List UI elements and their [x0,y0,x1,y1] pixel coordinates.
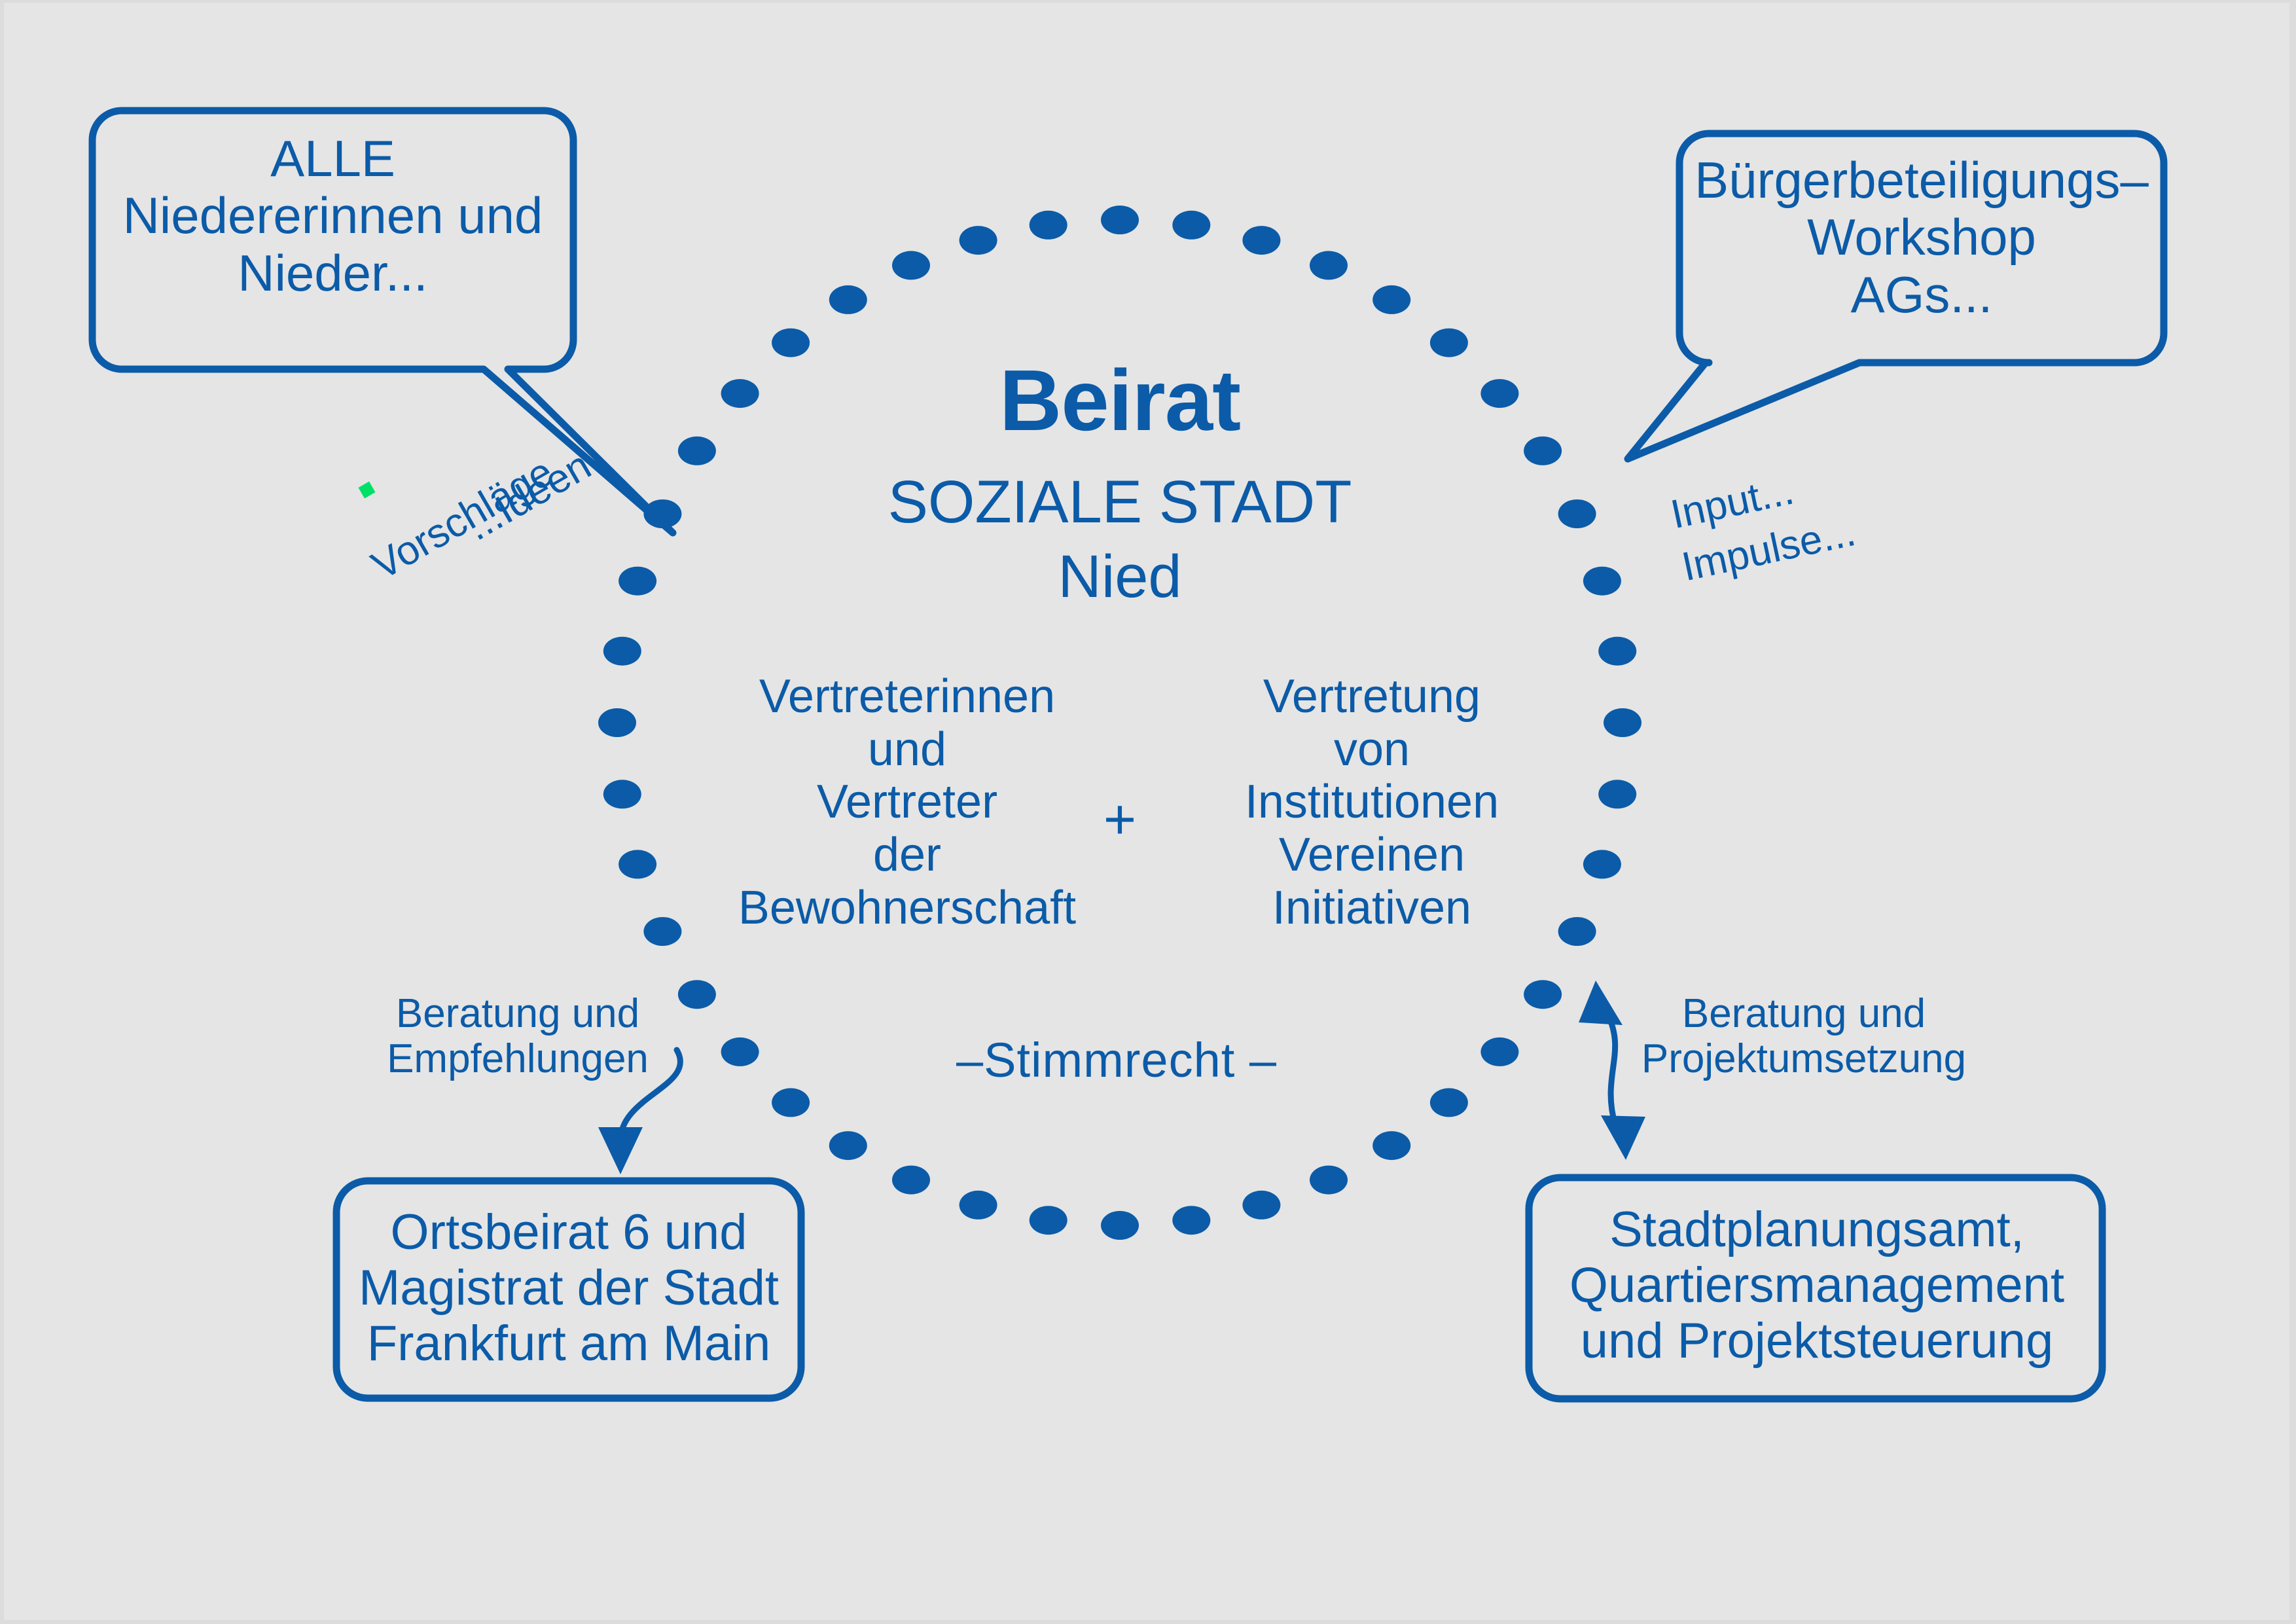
center-left-column: Vertreterinnen und Vertreter der Bewohne… [704,670,1110,934]
ring-dot [721,379,759,408]
center-footer-stimmrecht: –Stimmrecht – [933,1034,1300,1088]
center-title-main: Beirat [776,352,1463,449]
ring-dot [1242,1191,1280,1219]
ring-dot [1242,226,1280,255]
ring-dot [1372,1131,1410,1160]
ring-dot [1524,437,1562,465]
ring-dot [1310,251,1348,280]
ring-dot [603,637,641,666]
diagram-canvas: .stroke { fill: none; stroke: #0b5ba8; s… [0,0,2296,1624]
ring-dot [619,850,656,878]
ring-dot [1101,1211,1139,1240]
center-plus-sign: + [1077,788,1162,851]
ring-dot [829,285,867,314]
ring-dot [643,917,681,946]
ring-dot [960,226,997,255]
ring-dot [721,1038,759,1066]
label-beratung-empfehlungen: Beratung und Empfehlungen [351,991,685,1082]
ring-dot [960,1191,997,1219]
ring-dot [598,708,636,737]
ring-dot [603,780,641,808]
bubble-participation-text: Bürgerbeteiligungs– Workshop AGs... [1679,152,2164,323]
ring-dot [829,1131,867,1160]
ring-dot [1172,1206,1210,1235]
ring-dot [1480,379,1518,408]
ring-dot [1310,1166,1348,1195]
ring-dot [1598,637,1636,666]
box-stadtplanungsamt-text: Stadtplanungsamt, Quartiersmanagement un… [1537,1202,2097,1369]
ring-dot [1101,206,1139,234]
ring-dot [1030,1206,1067,1235]
ring-dot [892,251,930,280]
ring-dot [772,1088,810,1117]
ring-dot [1030,211,1067,240]
center-title-sub2: Nied [744,543,1496,611]
ring-dot [1583,850,1621,878]
ring-dot [1604,708,1641,737]
ring-dot [1430,1088,1468,1117]
label-beratung-projektumsetzung: Beratung und Projektumsetzung [1637,991,1971,1082]
ring-dot [1524,980,1562,1009]
bubble-citizens-text: ALLE Niedererinnen und Nieder... [92,130,573,302]
ring-dot [1480,1038,1518,1066]
arrow-beratung-projektumsetzung [1579,981,1645,1160]
center-right-column: Vertretung von Institutionen Vereinen In… [1175,670,1568,934]
center-title-sub1: SOZIALE STADT [744,469,1496,536]
ring-dot [619,567,656,596]
box-ortsbeirat-text: Ortsbeirat 6 und Magistrat der Stadt Fra… [343,1204,795,1371]
ring-dot [678,437,716,465]
ring-dot [1558,499,1596,528]
ring-dot [892,1166,930,1195]
ring-dot [1583,567,1621,596]
ring-dot [1598,780,1636,808]
ring-dot [1372,285,1410,314]
ring-dot [1172,211,1210,240]
